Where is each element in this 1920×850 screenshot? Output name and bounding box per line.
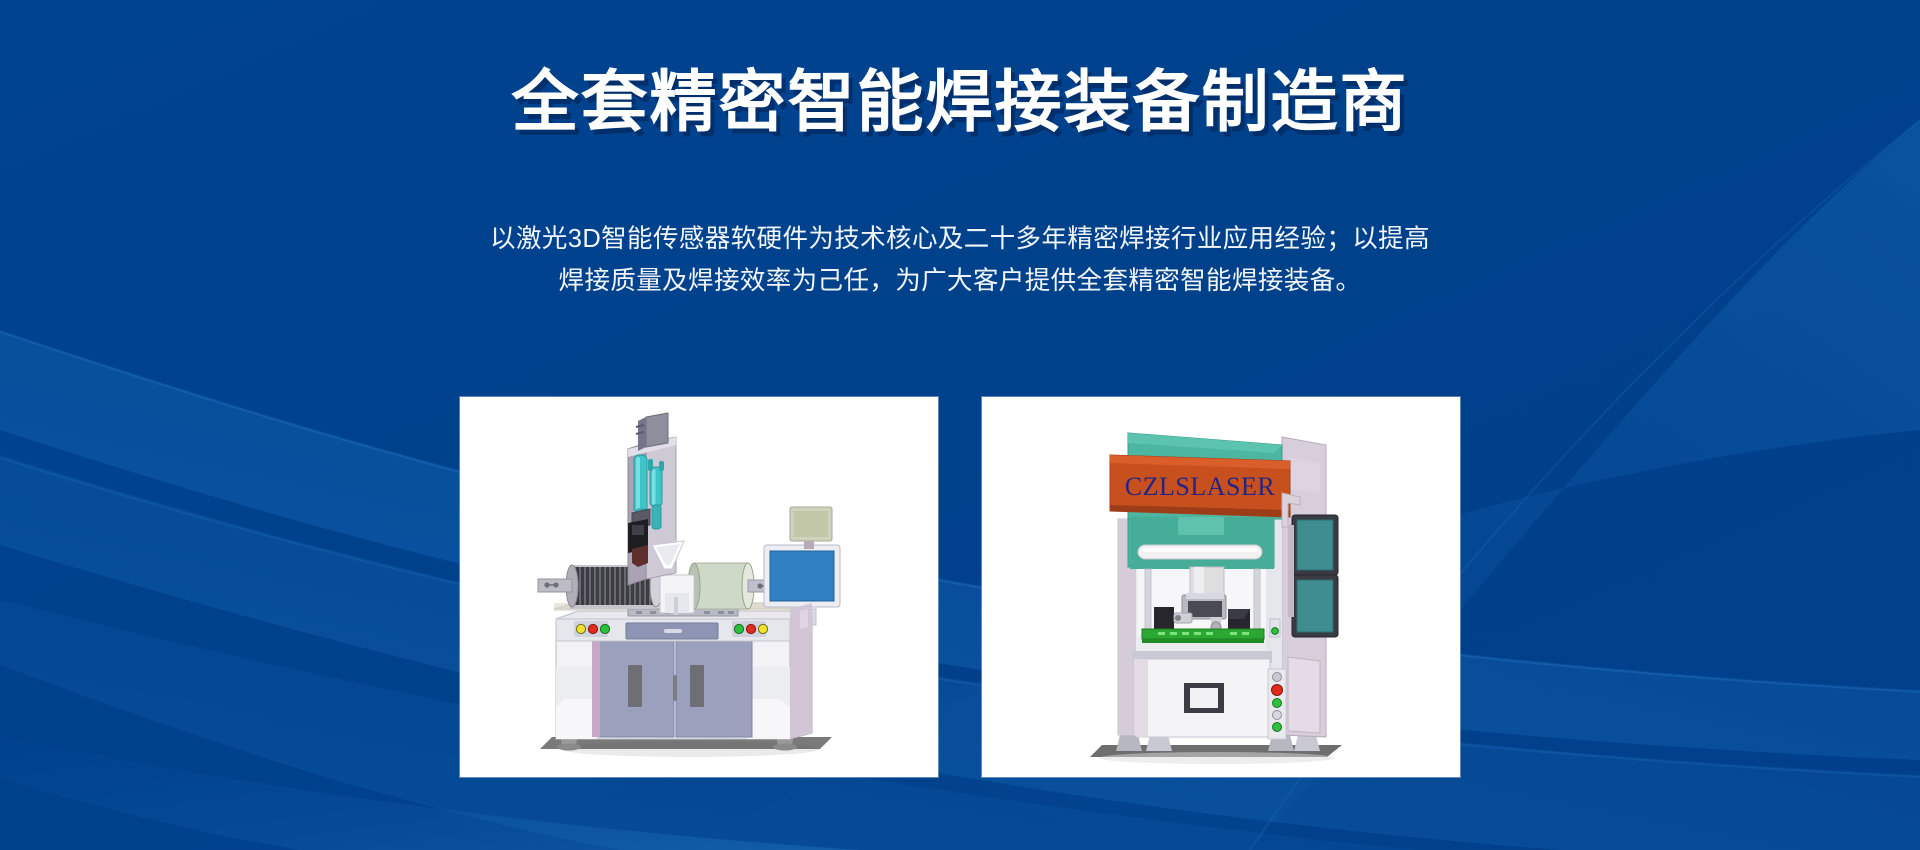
page-title: 全套精密智能焊接装备制造商 bbox=[512, 68, 1409, 138]
welding-workstation-illustration bbox=[460, 397, 938, 777]
banner-description-line-1: 以激光3D智能传感器软硬件为技术核心及二十多年精密焊接行业应用经验；以提高 bbox=[408, 219, 1513, 260]
product-gallery: 精密焊接工作站设备图 bbox=[0, 397, 1920, 777]
machine-brand-label: CZLSLASER bbox=[1125, 472, 1276, 501]
banner-description-line-2: 焊接质量及焊接效率为己任，为广大客户提供全套精密智能焊接装备。 bbox=[408, 261, 1513, 302]
laser-welding-cell-illustration: CZLSLASER bbox=[982, 397, 1460, 777]
banner-description: 以激光3D智能传感器软硬件为技术核心及二十多年精密焊接行业应用经验；以提高 焊接… bbox=[408, 219, 1513, 302]
product-image-card-right[interactable]: 封闭式激光焊接机设备图 bbox=[982, 397, 1460, 777]
product-image-card-left[interactable]: 精密焊接工作站设备图 bbox=[460, 397, 938, 777]
hero-banner: 全套精密智能焊接装备制造商 以激光3D智能传感器软硬件为技术核心及二十多年精密焊… bbox=[0, 0, 1920, 850]
